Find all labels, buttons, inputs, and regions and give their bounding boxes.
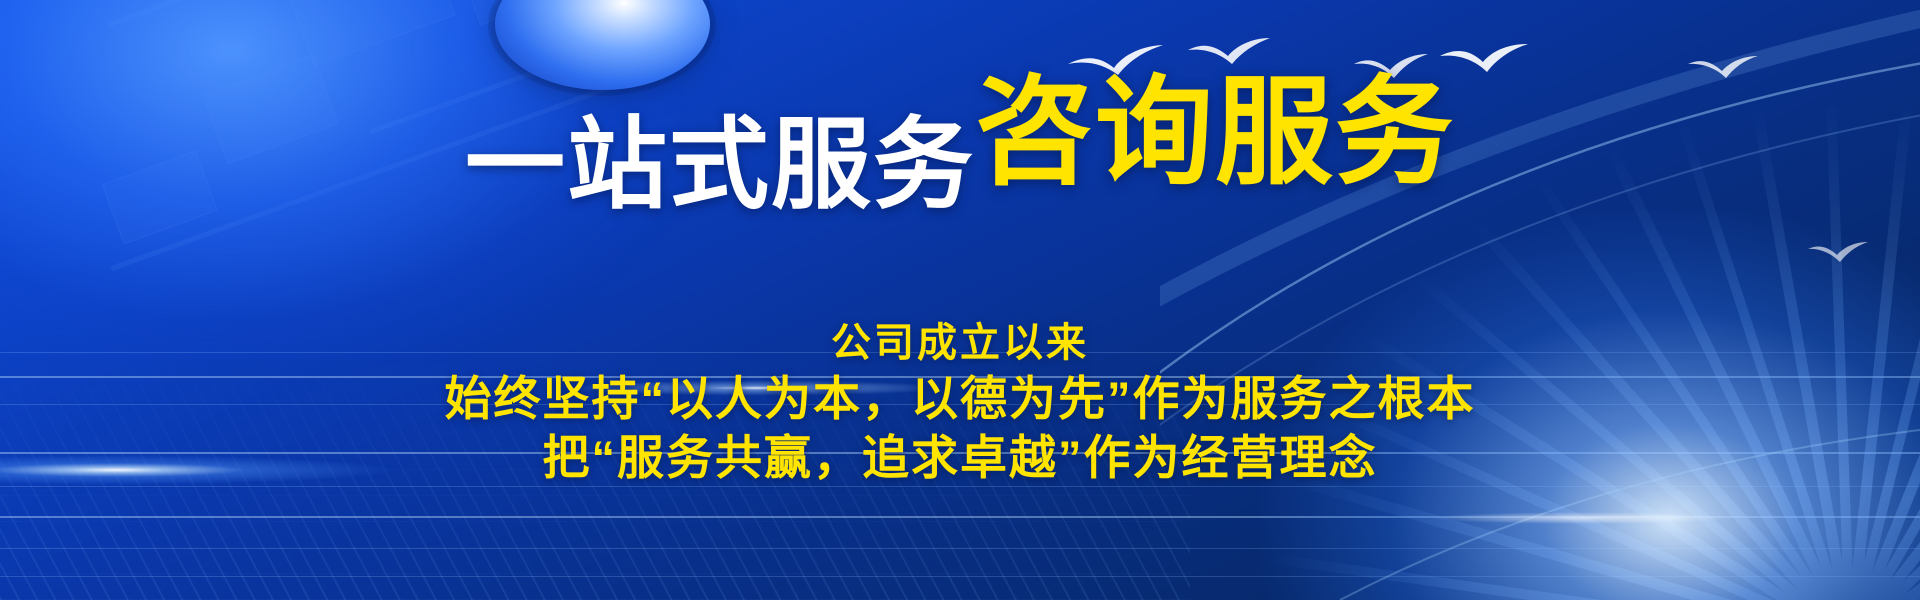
service-banner: 一站式服务咨询服务 公司成立以来 始终坚持“以人为本，以德为先”作为服务之根本 … <box>0 0 1920 600</box>
seagull-icon <box>1806 240 1870 264</box>
body-line-2: 始终坚持“以人为本，以德为先”作为服务之根本 <box>0 369 1920 428</box>
headline-accent: 咨询服务 <box>975 67 1455 199</box>
seagull-icon <box>1186 36 1272 66</box>
banner-headline: 一站式服务咨询服务 <box>0 78 1920 196</box>
body-line-3: 把“服务共赢，追求卓越”作为经营理念 <box>0 428 1920 487</box>
headline-primary: 一站式服务 <box>465 109 975 221</box>
banner-body-text: 公司成立以来 始终坚持“以人为本，以德为先”作为服务之根本 把“服务共赢，追求卓… <box>0 318 1920 488</box>
seagull-icon <box>1686 54 1760 80</box>
body-line-1: 公司成立以来 <box>0 318 1920 369</box>
lens-flare-tertiary <box>1430 512 1730 524</box>
